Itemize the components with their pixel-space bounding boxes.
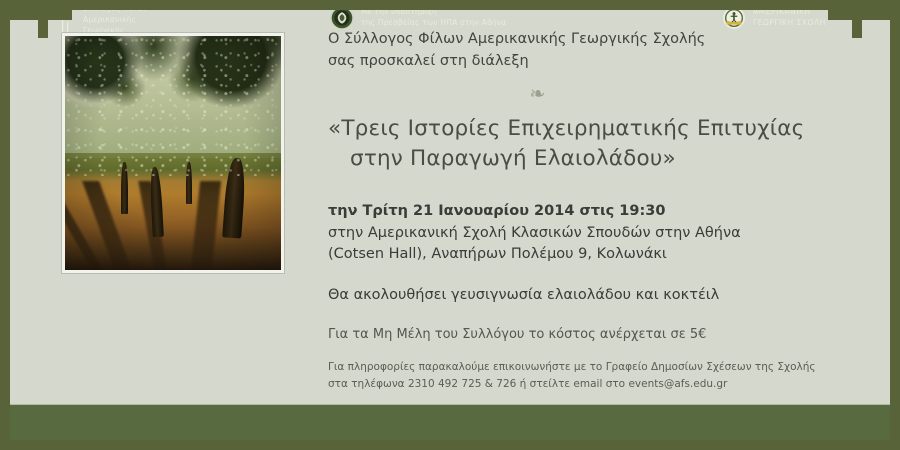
photo-vignette (65, 36, 281, 270)
lecture-title-line-1: «Τρεις Ιστορίες Επιχειρηματικής Επιτυχία… (328, 116, 804, 141)
event-details: την Τρίτη 21 Ιανουαρίου 2014 στις 19:30 … (328, 201, 868, 266)
corner-ornament-top-right-gap (838, 20, 852, 33)
frame-border-bottom (0, 440, 900, 450)
intro-line-1: Ο Σύλλογος Φίλων Αμερικανικής Γεωργικής … (328, 28, 868, 50)
footer-band (10, 405, 890, 440)
footer-right-text: ΑΜΕΡΙΚΑΝΙΚΗ ΓΕΩΡΓΙΚΗ ΣΧΟΛΗ (753, 7, 826, 29)
invitation-poster: Ο Σύλλογος Φίλων Αμερικανικής Γεωργικής … (0, 0, 900, 450)
frame-border-top (0, 0, 900, 10)
intro-line-2: σας προσκαλεί στη διάλεξη (328, 50, 868, 72)
invitation-intro: Ο Σύλλογος Φίλων Αμερικανικής Γεωργικής … (328, 28, 868, 73)
lecture-title: «Τρεις Ιστορίες Επιχειρηματικής Επιτυχία… (328, 114, 868, 175)
contact-line-1: Για πληροφορίες παρακαλούμε επικοινωνήστ… (328, 359, 868, 375)
corner-ornament-top-right (828, 10, 838, 20)
corner-ornament-top-right (852, 10, 862, 38)
contact-information: Για πληροφορίες παρακαλούμε επικοινωνήστ… (328, 359, 868, 392)
event-cost-note: Για τα Μη Μέλη του Συλλόγου το κόστος αν… (328, 325, 868, 345)
invitation-text-column: Ο Σύλλογος Φίλων Αμερικανικής Γεωργικής … (328, 28, 868, 392)
flourish-ornament-icon: ❧ (328, 85, 868, 104)
olive-grove-photo (62, 33, 284, 273)
contact-line-2: στα τηλέφωνα 2310 492 725 & 726 ή στείλτ… (328, 376, 868, 392)
event-datetime: την Τρίτη 21 Ιανουαρίου 2014 στις 19:30 (328, 201, 868, 223)
event-venue: στην Αμερικανική Σχολή Κλασικών Σπουδών … (328, 223, 868, 245)
footer-center-text: Με την υποστήριξη της Πρεσβείας των ΗΠΑ … (361, 7, 506, 29)
frame-border-right (890, 0, 900, 450)
corner-ornament-top-left (62, 10, 72, 20)
corner-ornament-top-left-gap (48, 20, 62, 33)
corner-ornament-top-left (38, 10, 48, 38)
event-followup-note: Θα ακολουθήσει γευσιγνωσία ελαιολάδου κα… (328, 285, 868, 307)
frame-border-left (0, 0, 10, 450)
lecture-title-line-2: στην Παραγωγή Ελαιολάδου» (328, 144, 868, 175)
event-address: (Cotsen Hall), Αναπήρων Πολέμου 9, Κολων… (328, 244, 868, 266)
